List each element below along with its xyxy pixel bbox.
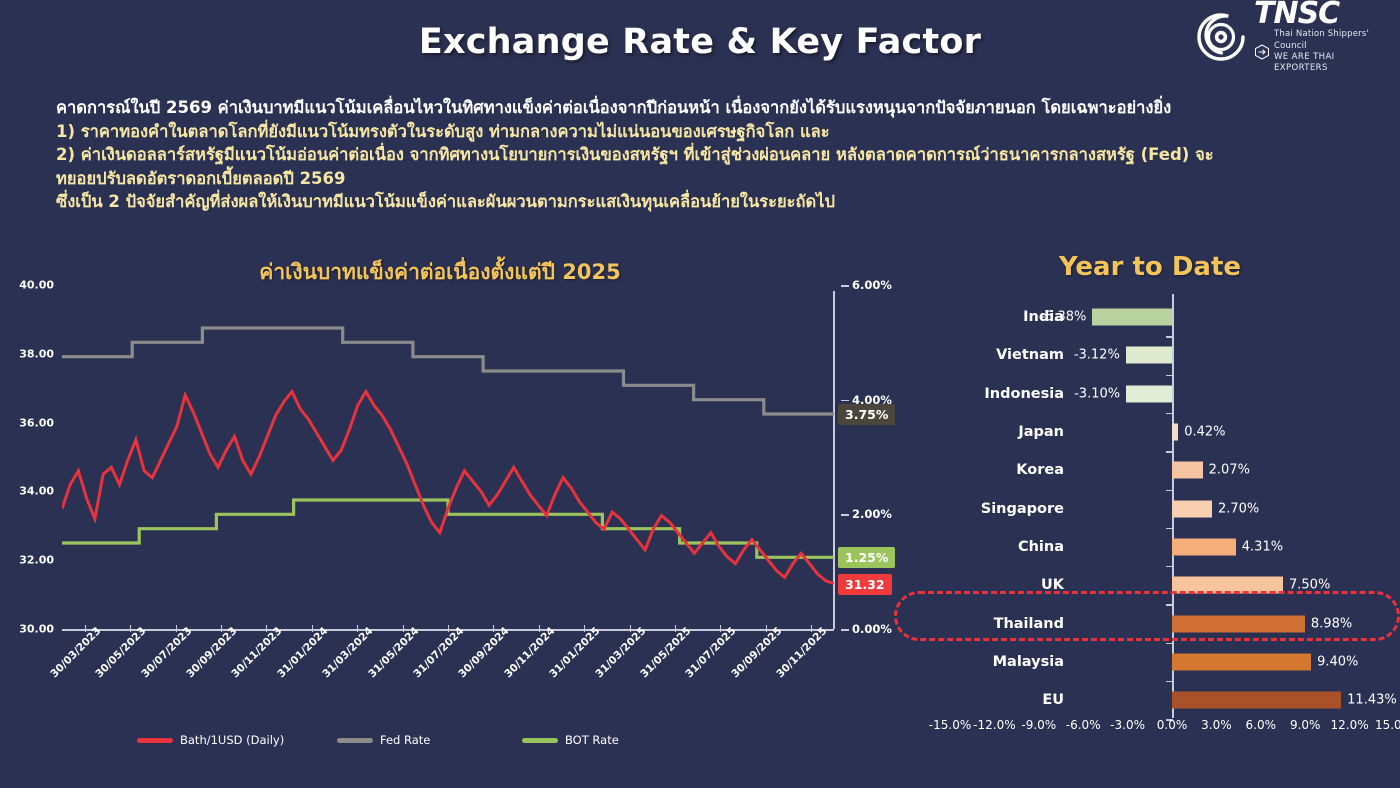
ytd-x-tick-label: -3.0%: [1110, 718, 1145, 732]
summary-line: 1) ราคาทองคำในตลาดโลกที่ยังมีแนวโน้มทรงต…: [56, 120, 1346, 144]
summary-line: ซึ่งเป็น 2 ปัจจัยสำคัญที่ส่งผลให้เงินบาท…: [56, 190, 1346, 214]
chart-value-badge: 31.32: [838, 574, 892, 595]
y-axis-tick-right: 0.00%: [852, 622, 892, 636]
exchange-chart-svg: [62, 285, 834, 629]
ytd-row[interactable]: Vietnam-3.12%: [900, 336, 1400, 374]
y-axis-tick-left: 30.00: [19, 623, 54, 636]
x-axis-tickmark: [357, 625, 358, 632]
x-axis-tickmark: [176, 625, 177, 632]
ytd-value-label: 11.43%: [1347, 693, 1397, 708]
ytd-row[interactable]: Malaysia9.40%: [900, 643, 1400, 681]
x-axis-tickmark: [312, 625, 313, 632]
arrow-hex-icon: [1254, 44, 1270, 60]
x-axis-tickmark: [720, 625, 721, 632]
page-title: Exchange Rate & Key Factor: [0, 22, 1400, 62]
ytd-x-tick-label: 15.0%: [1375, 718, 1400, 732]
ytd-chart-title: Year to Date: [900, 252, 1400, 282]
legend-item[interactable]: BOT Rate: [522, 733, 619, 747]
ytd-bar: [1126, 347, 1172, 364]
logo-subtitle: Thai Nation Shippers' Council: [1274, 29, 1390, 52]
ytd-country-label: Japan: [900, 413, 1070, 451]
ytd-x-tick-label: 12.0%: [1331, 718, 1369, 732]
ytd-chart: India-5.38%Vietnam-3.12%Indonesia-3.10%J…: [900, 290, 1400, 745]
ytd-row[interactable]: UK7.50%: [900, 566, 1400, 604]
summary-line: 2) ค่าเงินดอลลาร์สหรัฐมีแนวโน้มอ่อนค่าต่…: [56, 143, 1346, 167]
summary-paragraph: คาดการณ์ในปี 2569 ค่าเงินบาทมีแนวโน้มเคล…: [56, 96, 1346, 214]
ytd-bar: [1172, 692, 1341, 709]
y-axis-tick-right: 6.00%: [852, 278, 892, 292]
x-axis-tickmark: [539, 625, 540, 632]
x-axis-tickmark: [811, 625, 812, 632]
ytd-country-label: Indonesia: [900, 375, 1070, 413]
x-axis-tickmark: [493, 625, 494, 632]
y-axis-tick-left: 38.00: [19, 347, 54, 360]
slide-root: Exchange Rate & Key Factor TNSC Thai Nat…: [0, 0, 1400, 788]
chart-value-badge: 1.25%: [838, 547, 895, 568]
ytd-bar: [1172, 462, 1203, 479]
ytd-bar: [1172, 615, 1305, 632]
logo-wordmark: TNSC: [1254, 0, 1390, 29]
ytd-row[interactable]: Japan0.42%: [900, 413, 1400, 451]
ytd-x-tick-label: -9.0%: [1021, 718, 1056, 732]
ytd-row[interactable]: Singapore2.70%: [900, 490, 1400, 528]
exchange-chart-legend: Bath/1USD (Daily)Fed RateBOT Rate: [62, 733, 842, 757]
x-axis-tickmark: [584, 625, 585, 632]
exchange-chart-left-axis: 30.0032.0034.0036.0038.0040.00: [0, 285, 62, 635]
x-axis-tickmark: [221, 625, 222, 632]
ytd-value-label: 0.42%: [1184, 425, 1225, 440]
x-axis-tickmark: [403, 625, 404, 632]
y-axis-tick-left: 36.00: [19, 416, 54, 429]
legend-label: Fed Rate: [380, 733, 430, 747]
ytd-x-tick-label: -15.0%: [929, 718, 971, 732]
ytd-row[interactable]: Korea2.07%: [900, 451, 1400, 489]
legend-swatch: [137, 738, 173, 743]
legend-swatch: [522, 738, 558, 743]
ytd-x-tick-label: 9.0%: [1290, 718, 1321, 732]
ytd-row[interactable]: Thailand8.98%: [900, 604, 1400, 642]
ytd-value-label: 4.31%: [1242, 539, 1283, 554]
y-axis-tick-left: 32.00: [19, 554, 54, 567]
x-axis-tickmark: [675, 625, 676, 632]
y-axis-tickmark-right: [841, 400, 849, 402]
logo-text-block: TNSC Thai Nation Shippers' Council WE AR…: [1254, 0, 1390, 75]
ytd-bar: [1172, 653, 1311, 670]
y-axis-tick-right: 2.00%: [852, 507, 892, 521]
ytd-country-label: Vietnam: [900, 336, 1070, 374]
legend-item[interactable]: Fed Rate: [337, 733, 430, 747]
ytd-country-label: UK: [900, 566, 1070, 604]
ytd-country-label: Thailand: [900, 604, 1070, 642]
ytd-country-label: EU: [900, 681, 1070, 719]
chart-value-badge: 3.75%: [838, 404, 895, 425]
y-axis-tickmark-right: [841, 285, 849, 287]
x-axis-tickmark: [766, 625, 767, 632]
ytd-country-label: China: [900, 528, 1070, 566]
ytd-country-label: Korea: [900, 451, 1070, 489]
legend-swatch: [337, 738, 373, 743]
ytd-row[interactable]: China4.31%: [900, 528, 1400, 566]
y-axis-tickmark-right: [841, 514, 849, 516]
legend-label: BOT Rate: [565, 733, 619, 747]
baht-usd-line: [62, 392, 834, 584]
x-axis-tickmark: [448, 625, 449, 632]
exchange-chart-plot: [62, 285, 834, 629]
ytd-bar: [1126, 385, 1172, 402]
ytd-bar: [1172, 577, 1283, 594]
x-axis-tickmark: [630, 625, 631, 632]
summary-line: คาดการณ์ในปี 2569 ค่าเงินบาทมีแนวโน้มเคล…: [56, 96, 1346, 120]
legend-item[interactable]: Bath/1USD (Daily): [137, 733, 284, 747]
tnsc-logo: TNSC Thai Nation Shippers' Council WE AR…: [1195, 8, 1390, 66]
x-axis-tickmark: [130, 625, 131, 632]
ytd-value-label: 2.07%: [1209, 463, 1250, 478]
ytd-value-label: -5.38%: [1036, 310, 1086, 325]
ytd-value-label: 2.70%: [1218, 501, 1259, 516]
ytd-bar: [1172, 424, 1178, 441]
y-axis-tick-left: 40.00: [19, 279, 54, 292]
y-axis-tickmark-right: [841, 629, 849, 631]
ytd-value-label: 8.98%: [1311, 616, 1352, 631]
ytd-x-tick-label: 0.0%: [1157, 718, 1188, 732]
x-axis-tickmark: [266, 625, 267, 632]
ytd-row[interactable]: EU11.43%: [900, 681, 1400, 719]
ytd-x-tick-label: 6.0%: [1246, 718, 1277, 732]
logo-tagline-row: Thai Nation Shippers' Council WE ARE THA…: [1254, 29, 1390, 74]
ytd-value-label: 7.50%: [1289, 578, 1330, 593]
summary-line: ทยอยปรับลดอัตราดอกเบี้ยตลอดปี 2569: [56, 167, 1346, 191]
ytd-row[interactable]: India-5.38%: [900, 298, 1400, 336]
ytd-row[interactable]: Indonesia-3.10%: [900, 375, 1400, 413]
ytd-country-label: Malaysia: [900, 643, 1070, 681]
ytd-country-label: Singapore: [900, 490, 1070, 528]
exchange-chart-x-axis: 30/03/202330/05/202330/07/202330/09/2023…: [62, 631, 834, 711]
y-axis-tick-left: 34.00: [19, 485, 54, 498]
exchange-rate-chart: 30.0032.0034.0036.0038.0040.00 0.00%2.00…: [0, 285, 900, 755]
tnsc-spiral-icon: [1195, 11, 1247, 63]
ytd-value-label: 9.40%: [1317, 654, 1358, 669]
ytd-x-tick-label: 3.0%: [1201, 718, 1232, 732]
fed-rate-line: [62, 328, 834, 414]
logo-tagline: WE ARE THAI EXPORTERS: [1274, 52, 1390, 74]
ytd-bar: [1092, 309, 1172, 326]
ytd-x-tick-label: -6.0%: [1066, 718, 1101, 732]
x-axis-tickmark: [85, 625, 86, 632]
ytd-bar: [1172, 500, 1212, 517]
ytd-value-label: -3.10%: [1070, 386, 1120, 401]
ytd-value-label: -3.12%: [1070, 348, 1120, 363]
ytd-x-axis-labels: -15.0%-12.0%-9.0%-6.0%-3.0%0.0%3.0%6.0%9…: [955, 718, 1400, 740]
legend-label: Bath/1USD (Daily): [180, 733, 284, 747]
ytd-bar: [1172, 538, 1236, 555]
ytd-x-tick-label: -12.0%: [973, 718, 1015, 732]
